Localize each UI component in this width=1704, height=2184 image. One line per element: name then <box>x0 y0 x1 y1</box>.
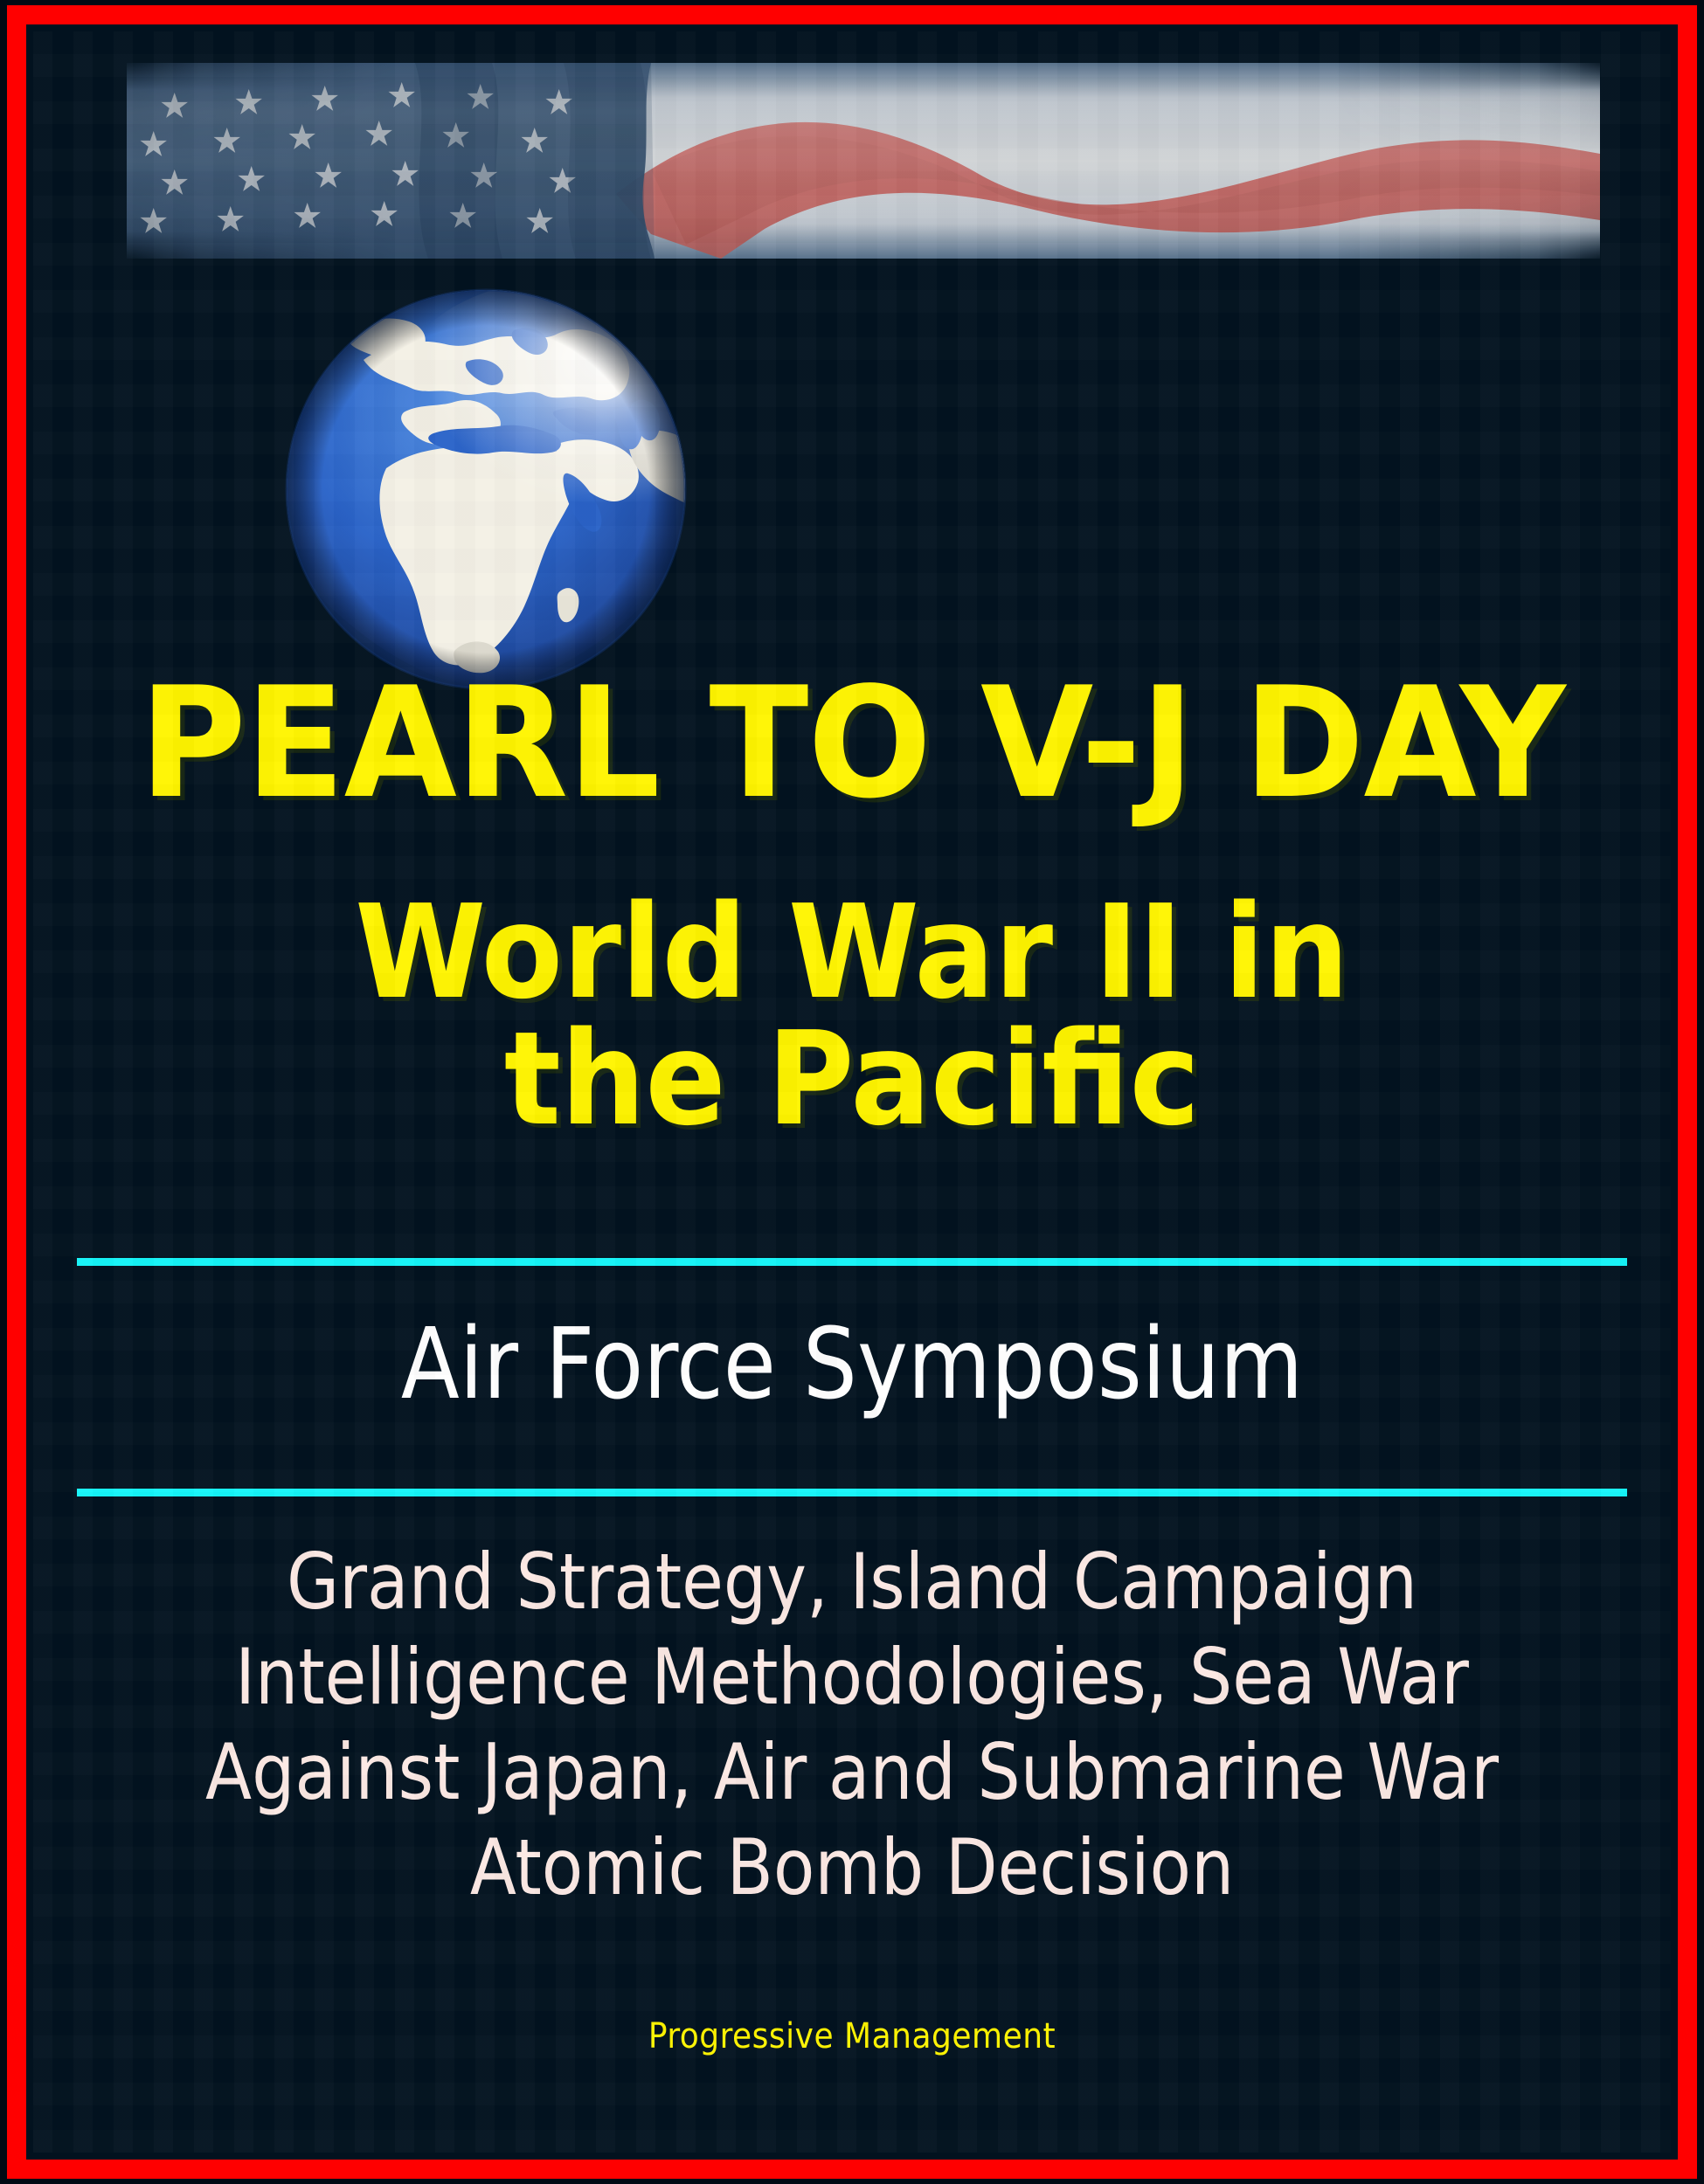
divider-rule-top <box>77 1258 1627 1266</box>
book-cover: PEARL TO V-J DAY World War II in the Pac… <box>0 0 1704 2184</box>
description-line: Grand Strategy, Island Campaign <box>50 1534 1655 1629</box>
page-title-sub-line2: the Pacific <box>33 1014 1671 1144</box>
cover-text-content: PEARL TO V-J DAY World War II in the Pac… <box>33 31 1671 2153</box>
description-line: Against Japan, Air and Submarine War <box>50 1724 1655 1820</box>
description-line: Intelligence Methodologies, Sea War <box>50 1629 1655 1724</box>
publisher-name: Progressive Management <box>33 2016 1671 2056</box>
page-title-main: PEARL TO V-J DAY <box>33 674 1671 814</box>
page-title-sub-line1: World War II in <box>33 888 1671 1017</box>
divider-rule-bottom <box>77 1489 1627 1496</box>
description-block: Grand Strategy, Island Campaign Intellig… <box>50 1534 1655 1915</box>
cover-background-field: PEARL TO V-J DAY World War II in the Pac… <box>33 31 1671 2153</box>
description-line: Atomic Bomb Decision <box>50 1820 1655 1915</box>
symposium-subtitle: Air Force Symposium <box>58 1314 1646 1417</box>
